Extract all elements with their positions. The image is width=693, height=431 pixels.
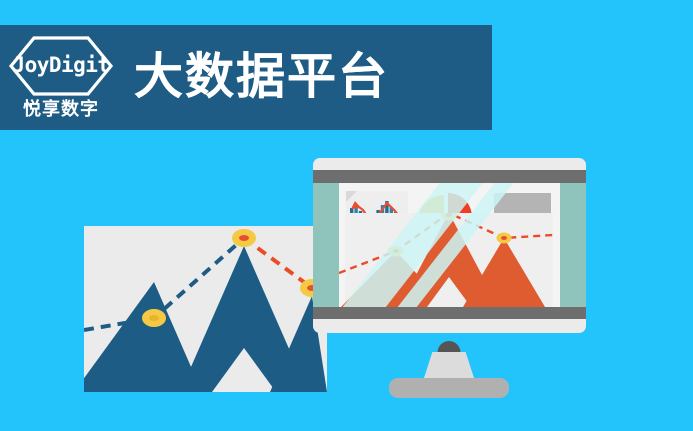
mountain-line-chart-panel	[84, 226, 327, 392]
trend-dashed-line	[84, 238, 327, 330]
logo-subtitle: 悦享数字	[23, 95, 99, 121]
mountain-silhouette	[84, 246, 327, 392]
monitor-stand-base	[389, 378, 509, 398]
monitor-stand-neck	[423, 352, 475, 381]
monitor-screen	[313, 183, 586, 307]
logo-wordmark: JoyDigit	[12, 55, 109, 76]
header-banner: JoyDigit 悦享数字 大数据平台	[0, 25, 492, 130]
illustration-canvas: JoyDigit 悦享数字 大数据平台	[0, 0, 693, 431]
screen-right-strip	[560, 183, 586, 307]
desktop-monitor	[313, 158, 586, 333]
monitor-frame	[313, 158, 586, 333]
hexagon-icon: JoyDigit	[7, 35, 115, 97]
brand-logo: JoyDigit 悦享数字	[0, 25, 122, 130]
screen-left-strip	[313, 183, 339, 307]
page-title: 大数据平台	[134, 53, 389, 102]
screen-top-bar	[313, 170, 586, 183]
screen-bottom-bar	[313, 307, 586, 319]
